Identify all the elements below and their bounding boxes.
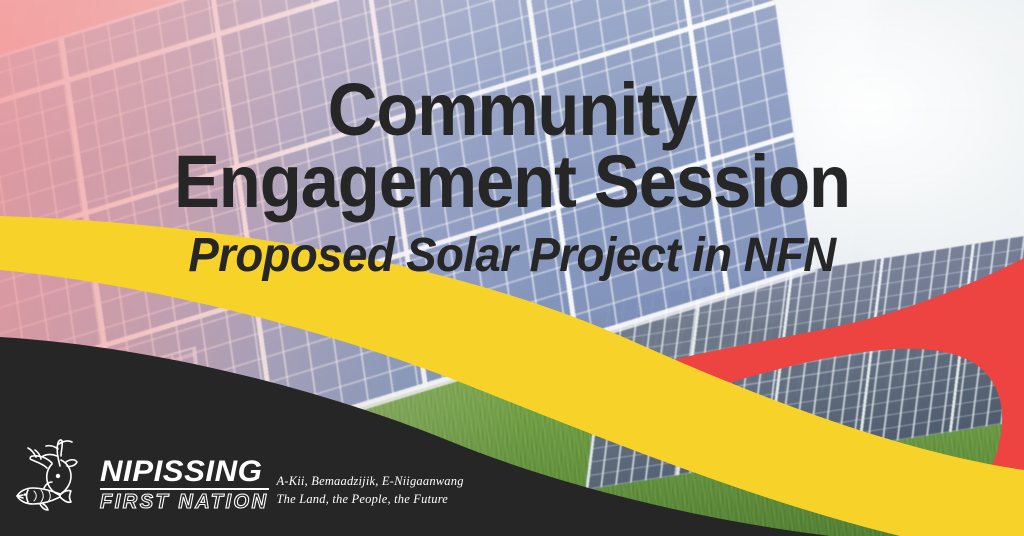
deer-and-pickerel-emblem-icon: [14, 436, 94, 514]
tagline-english: The Land, the People, the Future: [277, 490, 464, 508]
logo-wordmark-group: NIPISSING FIRST NATION A-Kii, Bemaadziji…: [100, 457, 464, 514]
logo-tagline: A-Kii, Bemaadzijik, E-Niigaanwang The La…: [277, 472, 464, 512]
nipissing-first-nation-logo: NIPISSING FIRST NATION A-Kii, Bemaadziji…: [14, 436, 464, 514]
wordmark-nipissing: NIPISSING: [100, 457, 275, 487]
wordmark: NIPISSING FIRST NATION: [100, 457, 269, 512]
tagline-anishinaabemowin: A-Kii, Bemaadzijik, E-Niigaanwang: [277, 472, 464, 490]
poster-canvas: Community Engagement Session Proposed So…: [0, 0, 1024, 536]
wordmark-first-nation: FIRST NATION: [100, 492, 269, 512]
wordmark-divider-rule: [100, 488, 269, 490]
